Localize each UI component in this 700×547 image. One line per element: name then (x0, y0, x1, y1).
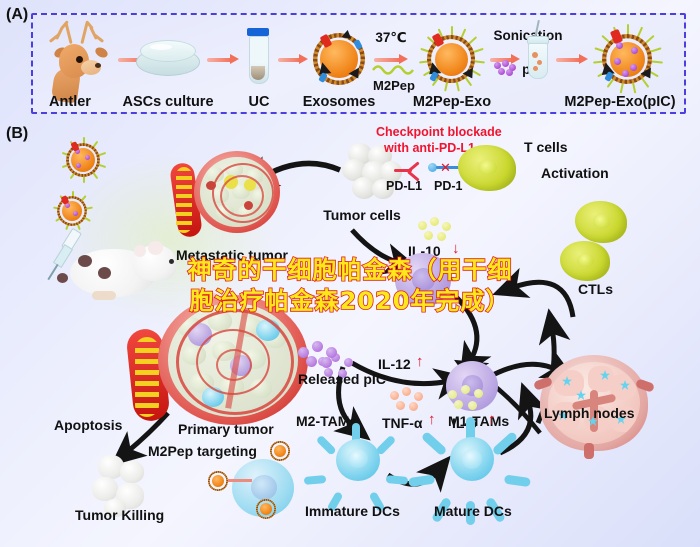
m2pep-squiggle-icon (372, 62, 416, 76)
panel-a-step-label-uc: UC (249, 94, 270, 110)
label-t-cells: T cells (524, 139, 568, 155)
loaded-exosome-icon (592, 24, 662, 94)
panel-a-step-label-antler: Antler (49, 94, 91, 110)
tnfa-cytokine-cluster (390, 387, 430, 413)
centrifuge-tube-icon (247, 28, 271, 86)
eppendorf-tube-icon (524, 36, 550, 80)
panel-a-step-label-exosomes: Exosomes (303, 94, 376, 110)
panel-b: Metastatic tumor Tumor cells Checkpoint … (0, 123, 700, 547)
il12-up-arrow: ↑ (416, 353, 424, 370)
panel-a-step-label-ascs: ASCs culture (122, 94, 213, 110)
mature-dc-cell (432, 419, 512, 499)
il10-down-arrow: ↓ (452, 240, 460, 257)
free-exosome-2 (52, 191, 92, 231)
t-cell-1 (458, 145, 516, 191)
panel-a-arrow-3 (278, 55, 308, 64)
petri-dish-icon (136, 38, 200, 78)
primary-tumor-illustration (130, 291, 320, 431)
panel-a-arrow-6 (556, 55, 588, 64)
label-metastatic-tumor: Metastatic tumor (176, 247, 288, 263)
label-ctls: CTLs (578, 281, 613, 297)
label-checkpoint-blockade-line1: Checkpoint blockade (376, 125, 502, 139)
released-pic-cluster (298, 341, 342, 367)
label-tumor-cells: Tumor cells (323, 207, 401, 223)
label-released-pic: Released pIC (298, 371, 386, 387)
exosome-icon (310, 30, 368, 88)
panel-a-annotation-m2pep: M2Pep (373, 78, 415, 93)
ctl-cell-1 (575, 201, 627, 243)
deer-icon (45, 20, 125, 92)
label-tumor-killing: Tumor Killing (75, 507, 164, 523)
free-exosome-1 (60, 137, 106, 183)
panel-a-step-label-m2pepexopic: M2Pep-Exo(pIC) (564, 94, 675, 110)
pic-cluster-icon (494, 60, 518, 76)
syringe-icon (42, 229, 92, 289)
label-immature-dcs: Immature DCs (305, 503, 400, 519)
ctl-cell-2 (560, 241, 610, 281)
panel-a: (A) Antler ASCs culture (0, 0, 700, 123)
panel-a-step-label-m2pepexo: M2Pep-Exo (413, 94, 491, 110)
il6-cytokine-cluster (448, 385, 490, 413)
label-checkpoint-blockade-line2: with anti-PD-L1 (384, 141, 475, 155)
label-primary-tumor: Primary tumor (178, 421, 274, 437)
label-pdl1: PD-L1 (386, 179, 422, 193)
label-lymph-nodes: Lymph nodes (544, 405, 635, 421)
label-apoptosis: Apoptosis (54, 417, 122, 433)
figure-canvas: (A) Antler ASCs culture (0, 0, 700, 547)
m2-tam-cell (395, 253, 451, 307)
label-il12: IL-12 (378, 356, 411, 372)
panel-a-tag: (A) (6, 6, 28, 24)
label-activation: Activation (541, 165, 609, 181)
label-pd1: PD-1 (434, 179, 462, 193)
blockade-x-icon: ✕ (440, 161, 451, 174)
label-mature-dcs: Mature DCs (434, 503, 512, 519)
panel-a-annotation-temperature: 37℃ (375, 30, 406, 46)
metastatic-tumor-illustration (172, 143, 287, 248)
panel-a-arrow-2 (207, 55, 239, 64)
peptide-exosome-icon (418, 26, 484, 92)
immature-dc-cell (320, 423, 394, 497)
